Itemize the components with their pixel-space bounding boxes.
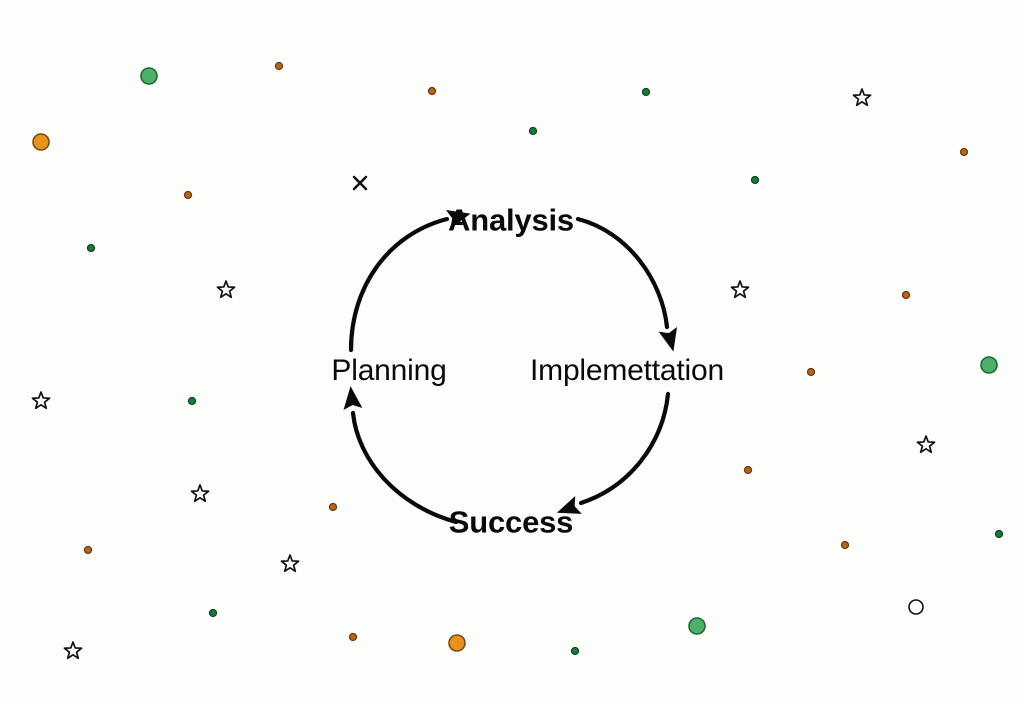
scatter-marker-dot: [842, 542, 849, 549]
scatter-marker-star-icon: [731, 281, 748, 297]
scatter-marker-dot: [330, 504, 337, 511]
scatter-marker-layer: [0, 0, 1024, 704]
cycle-node-label-planning: Planning: [331, 356, 446, 386]
scatter-marker-star-icon: [217, 281, 234, 297]
scatter-marker-star-icon: [281, 555, 298, 571]
scatter-marker-star-icon: [917, 436, 934, 452]
scatter-marker-dot: [745, 467, 752, 474]
scatter-marker-dot: [996, 531, 1003, 538]
scatter-marker-dot: [981, 357, 997, 373]
scatter-marker-dot: [808, 369, 815, 376]
scatter-marker-dot: [141, 68, 157, 84]
scatter-marker-dot: [961, 149, 968, 156]
scatter-marker-dot: [689, 618, 705, 634]
scatter-marker-star-icon: [64, 642, 81, 658]
cycle-node-label-implementation: Implemettation: [530, 356, 724, 386]
scatter-marker-star-icon: [191, 485, 208, 501]
scatter-marker-star-icon: [32, 392, 49, 408]
scatter-marker-dot: [643, 89, 650, 96]
scatter-marker-dot: [88, 245, 95, 252]
scatter-marker-star-icon: [853, 89, 870, 105]
cycle-node-label-analysis: Analysis: [448, 205, 574, 236]
scatter-marker-dot: [185, 192, 192, 199]
scatter-marker-dot: [429, 88, 436, 95]
scatter-marker-dot: [85, 547, 92, 554]
cycle-node-label-success: Success: [449, 507, 573, 538]
scatter-marker-cross-icon: [354, 177, 366, 189]
scatter-marker-dot: [530, 128, 537, 135]
scatter-marker-dot: [210, 610, 217, 617]
diagram-canvas: AnalysisImplemettationSuccessPlanning: [0, 0, 1024, 704]
scatter-marker-dot: [33, 134, 49, 150]
scatter-marker-dot: [449, 635, 465, 651]
scatter-marker-dot: [752, 177, 759, 184]
scatter-marker-dot: [350, 634, 357, 641]
scatter-marker-dot: [276, 63, 283, 70]
scatter-marker-dot: [903, 292, 910, 299]
scatter-marker-dot: [189, 398, 196, 405]
scatter-marker-dot: [572, 648, 579, 655]
scatter-marker-dot: [909, 600, 923, 614]
